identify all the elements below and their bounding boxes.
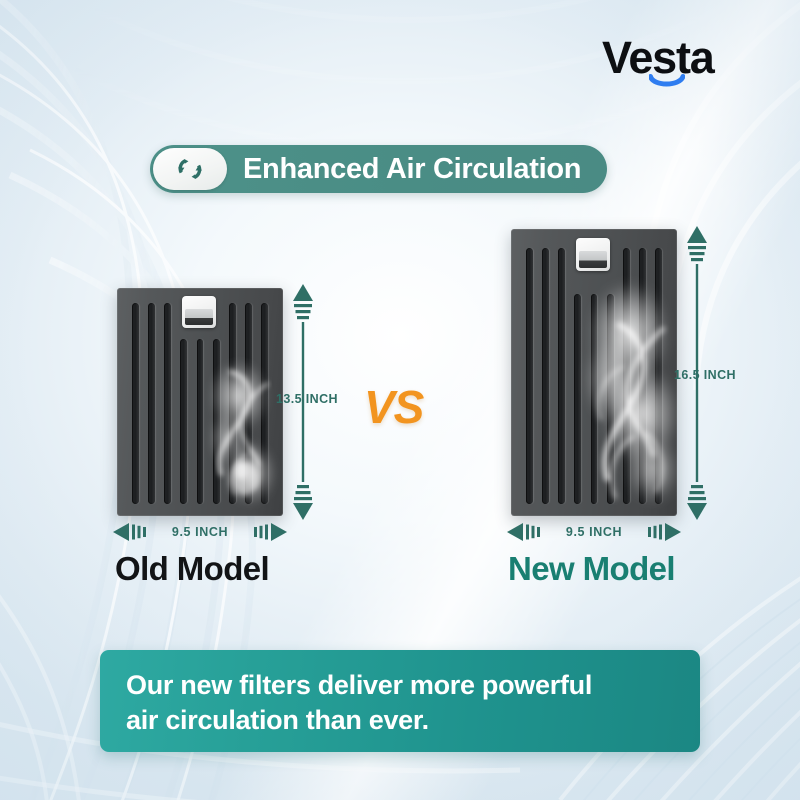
filter-slot (132, 303, 139, 504)
brand-logo-swoosh-icon (649, 74, 685, 91)
filter-slot (229, 303, 236, 504)
new-model-height-label: 16.5 INCH (674, 368, 736, 382)
old-model-height-label: 13.5 INCH (276, 392, 338, 406)
filter-slot (197, 339, 204, 504)
filter-slot (148, 303, 155, 504)
banner-title: Enhanced Air Circulation (243, 153, 581, 186)
filter-slot (261, 303, 268, 504)
filter-slot (180, 339, 187, 504)
filter-slot (245, 303, 252, 504)
brand-logo: Vesta (602, 30, 762, 86)
filter-slot (542, 248, 549, 504)
filter-slot (623, 248, 630, 504)
filter-slot (591, 294, 598, 504)
old-model-width-label: 9.5 INCH (150, 525, 250, 539)
caption-box: Our new filters deliver more powerful ai… (100, 650, 700, 752)
new-filter-slots (511, 229, 677, 516)
old-model-filter-panel (117, 288, 283, 516)
infographic-canvas: Vesta Enhanced Air Circulation (0, 0, 800, 800)
filter-slot (164, 303, 171, 504)
feature-banner: Enhanced Air Circulation (150, 145, 607, 193)
filter-slot (655, 248, 662, 504)
filter-slot (574, 294, 581, 504)
filter-slot (213, 339, 220, 504)
refresh-cycle-icon (175, 154, 205, 184)
new-model-filter-panel (511, 229, 677, 516)
new-filter-sensor-icon (576, 238, 610, 271)
filter-slot (639, 248, 646, 504)
new-model-width-label: 9.5 INCH (544, 525, 644, 539)
caption-line-2: air circulation than ever. (126, 703, 674, 738)
filter-slot (558, 248, 565, 504)
banner-icon-badge (153, 148, 227, 190)
vs-label: VS (364, 380, 423, 434)
caption-line-1: Our new filters deliver more powerful (126, 668, 674, 703)
old-filter-sensor-icon (182, 296, 216, 328)
old-model-label: Old Model (115, 550, 269, 588)
filter-slot (526, 248, 533, 504)
filter-slot (607, 294, 614, 504)
new-model-label: New Model (508, 550, 675, 588)
